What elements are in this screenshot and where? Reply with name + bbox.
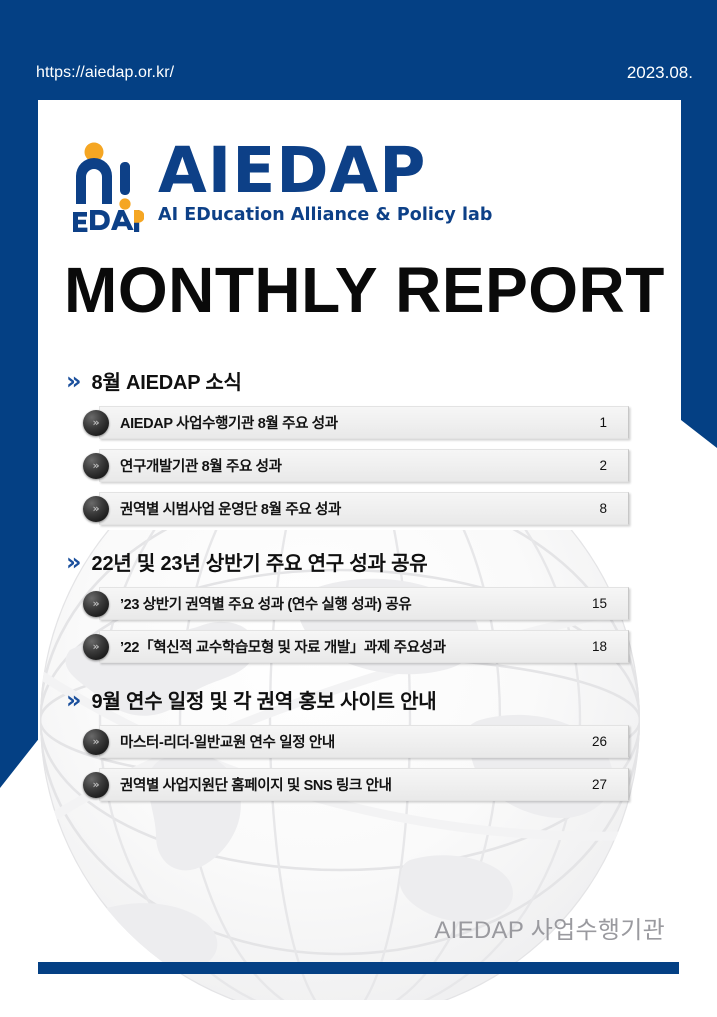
toc-item[interactable]: » ’22「혁신적 교수학습모형 및 자료 개발」과제 주요성과 18 bbox=[83, 630, 629, 663]
content-area: AIEDAP AI EDucation Alliance & Policy la… bbox=[38, 98, 679, 958]
toc-item-page: 2 bbox=[599, 449, 607, 482]
toc-item[interactable]: » 권역별 시범사업 운영단 8월 주요 성과 8 bbox=[83, 492, 629, 525]
toc-section: » 8월 AIEDAP 소식 » AIEDAP 사업수행기관 8월 주요 성과 … bbox=[38, 366, 679, 525]
double-chevron-circle-icon: » bbox=[83, 410, 109, 436]
toc-item-label: 권역별 시범사업 운영단 8월 주요 성과 bbox=[120, 492, 341, 525]
toc-item-label: 권역별 사업지원단 홈페이지 및 SNS 링크 안내 bbox=[120, 768, 392, 801]
toc-item[interactable]: » AIEDAP 사업수행기관 8월 주요 성과 1 bbox=[83, 406, 629, 439]
brand-tagline: AI EDucation Alliance & Policy lab bbox=[158, 205, 492, 225]
toc-section-header: » 8월 AIEDAP 소식 bbox=[38, 366, 679, 395]
footer-organization: AIEDAP 사업수행기관 bbox=[434, 910, 665, 945]
toc-item-label: AIEDAP 사업수행기관 8월 주요 성과 bbox=[120, 406, 338, 439]
double-chevron-circle-icon: » bbox=[83, 772, 109, 798]
double-chevron-right-icon: » bbox=[66, 550, 82, 574]
double-chevron-circle-icon: » bbox=[83, 591, 109, 617]
toc-section: » 22년 및 23년 상반기 주요 연구 성과 공유 » ’23 상반기 권역… bbox=[38, 547, 679, 663]
double-chevron-right-icon: » bbox=[66, 369, 82, 393]
toc-item-page: 26 bbox=[592, 725, 607, 758]
toc-item-page: 1 bbox=[599, 406, 607, 439]
report-cover-page: https://aiedap.or.kr/ 2023.08. bbox=[0, 0, 717, 1017]
toc-section: » 9월 연수 일정 및 각 권역 홍보 사이트 안내 » 마스터-리더-일반교… bbox=[38, 685, 679, 801]
toc-section-title: 9월 연수 일정 및 각 권역 홍보 사이트 안내 bbox=[92, 685, 437, 714]
brand-logo: AIEDAP AI EDucation Alliance & Policy la… bbox=[68, 140, 492, 232]
toc-section-title: 8월 AIEDAP 소식 bbox=[92, 366, 242, 395]
toc-section-header: » 9월 연수 일정 및 각 권역 홍보 사이트 안내 bbox=[38, 685, 679, 714]
brand-name: AIEDAP bbox=[158, 140, 492, 202]
toc-item-label: 마스터-리더-일반교원 연수 일정 안내 bbox=[120, 725, 335, 758]
right-blue-band bbox=[681, 98, 717, 448]
toc-item-label: ’22「혁신적 교수학습모형 및 자료 개발」과제 주요성과 bbox=[120, 630, 446, 663]
toc-item-page: 18 bbox=[592, 630, 607, 663]
page-title: MONTHLY REPORT bbox=[64, 258, 664, 322]
toc-item[interactable]: » 마스터-리더-일반교원 연수 일정 안내 26 bbox=[83, 725, 629, 758]
left-blue-band bbox=[0, 98, 38, 788]
double-chevron-circle-icon: » bbox=[83, 496, 109, 522]
toc-item[interactable]: » 연구개발기관 8월 주요 성과 2 bbox=[83, 449, 629, 482]
aiedap-person-logo-icon bbox=[68, 140, 144, 232]
toc-section-title: 22년 및 23년 상반기 주요 연구 성과 공유 bbox=[92, 547, 428, 576]
toc-item-page: 8 bbox=[599, 492, 607, 525]
double-chevron-right-icon: » bbox=[66, 688, 82, 712]
table-of-contents: » 8월 AIEDAP 소식 » AIEDAP 사업수행기관 8월 주요 성과 … bbox=[38, 366, 679, 811]
toc-section-header: » 22년 및 23년 상반기 주요 연구 성과 공유 bbox=[38, 547, 679, 576]
toc-item-page: 27 bbox=[592, 768, 607, 801]
toc-item[interactable]: » ’23 상반기 권역별 주요 성과 (연수 실행 성과) 공유 15 bbox=[83, 587, 629, 620]
toc-item-label: ’23 상반기 권역별 주요 성과 (연수 실행 성과) 공유 bbox=[120, 587, 411, 620]
toc-item-label: 연구개발기관 8월 주요 성과 bbox=[120, 449, 282, 482]
double-chevron-circle-icon: » bbox=[83, 729, 109, 755]
issue-date: 2023.08. bbox=[627, 63, 693, 83]
toc-item[interactable]: » 권역별 사업지원단 홈페이지 및 SNS 링크 안내 27 bbox=[83, 768, 629, 801]
double-chevron-circle-icon: » bbox=[83, 453, 109, 479]
toc-item-page: 15 bbox=[592, 587, 607, 620]
brand-wordmark: AIEDAP AI EDucation Alliance & Policy la… bbox=[158, 140, 492, 225]
top-blue-band bbox=[0, 0, 717, 100]
bottom-blue-rule bbox=[38, 962, 679, 974]
double-chevron-circle-icon: » bbox=[83, 634, 109, 660]
site-url[interactable]: https://aiedap.or.kr/ bbox=[36, 64, 174, 82]
